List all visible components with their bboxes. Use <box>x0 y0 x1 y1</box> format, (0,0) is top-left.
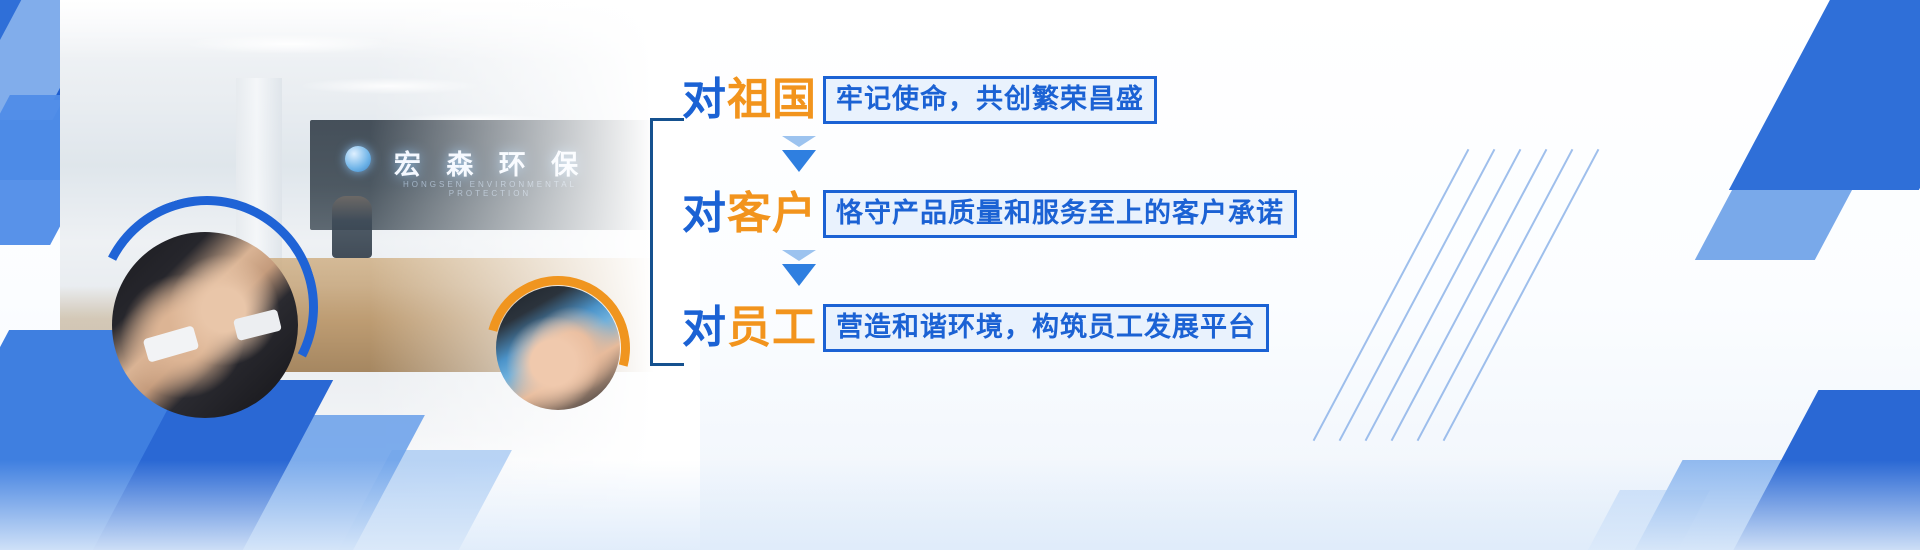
double-chevron-down-icon-1 <box>682 130 1342 184</box>
slogan-row-2: 对客户 恪守产品质量和服务至上的客户承诺 <box>682 184 1342 244</box>
handshake-cuff-left <box>143 326 200 364</box>
slogan-row-3: 对员工 营造和谐环境，构筑员工发展平台 <box>682 298 1342 358</box>
slogan-row-1-keyword: 祖国 <box>727 74 817 125</box>
slogan-rows: 对祖国 牢记使命，共创繁荣昌盛 对客户 恪守产品质量和服务至上的客户承诺 对员工… <box>682 70 1342 358</box>
slogan-row-3-label: 对员工 <box>682 306 817 350</box>
photo-receptionist <box>332 196 372 258</box>
chevron-bottom-2 <box>782 264 816 286</box>
slogan-row-2-keyword: 客户 <box>727 188 817 239</box>
slogan-row-3-keyword: 员工 <box>727 302 817 353</box>
chevron-bottom-1 <box>782 150 816 172</box>
slogan-row-2-description: 恪守产品质量和服务至上的客户承诺 <box>823 190 1297 238</box>
slogan-row-3-prefix: 对 <box>682 302 727 353</box>
clasped-hands-photo <box>496 286 620 410</box>
bracket-connector <box>650 118 684 366</box>
slogan-row-2-prefix: 对 <box>682 188 727 239</box>
slogan-block: 对祖国 牢记使命，共创繁荣昌盛 对客户 恪守产品质量和服务至上的客户承诺 对员工… <box>650 70 1350 400</box>
slogan-row-3-description: 营造和谐环境，构筑员工发展平台 <box>823 304 1269 352</box>
chevron-top-2 <box>782 250 816 261</box>
slogan-row-1-description: 牢记使命，共创繁荣昌盛 <box>823 76 1157 124</box>
slogan-row-1: 对祖国 牢记使命，共创繁荣昌盛 <box>682 70 1342 130</box>
corporate-banner: 宏 森 环 保 HONGSEN ENVIRONMENTAL PROTECTION… <box>0 0 1920 550</box>
chevron-top-1 <box>782 136 816 147</box>
double-chevron-down-icon-2 <box>682 244 1342 298</box>
slogan-row-2-label: 对客户 <box>682 192 817 236</box>
handshake-cuff-right <box>233 309 282 341</box>
handshake-photo <box>112 232 298 418</box>
slogan-row-1-prefix: 对 <box>682 74 727 125</box>
slogan-row-1-label: 对祖国 <box>682 78 817 122</box>
decor-diagonal-lines <box>1390 170 1650 430</box>
